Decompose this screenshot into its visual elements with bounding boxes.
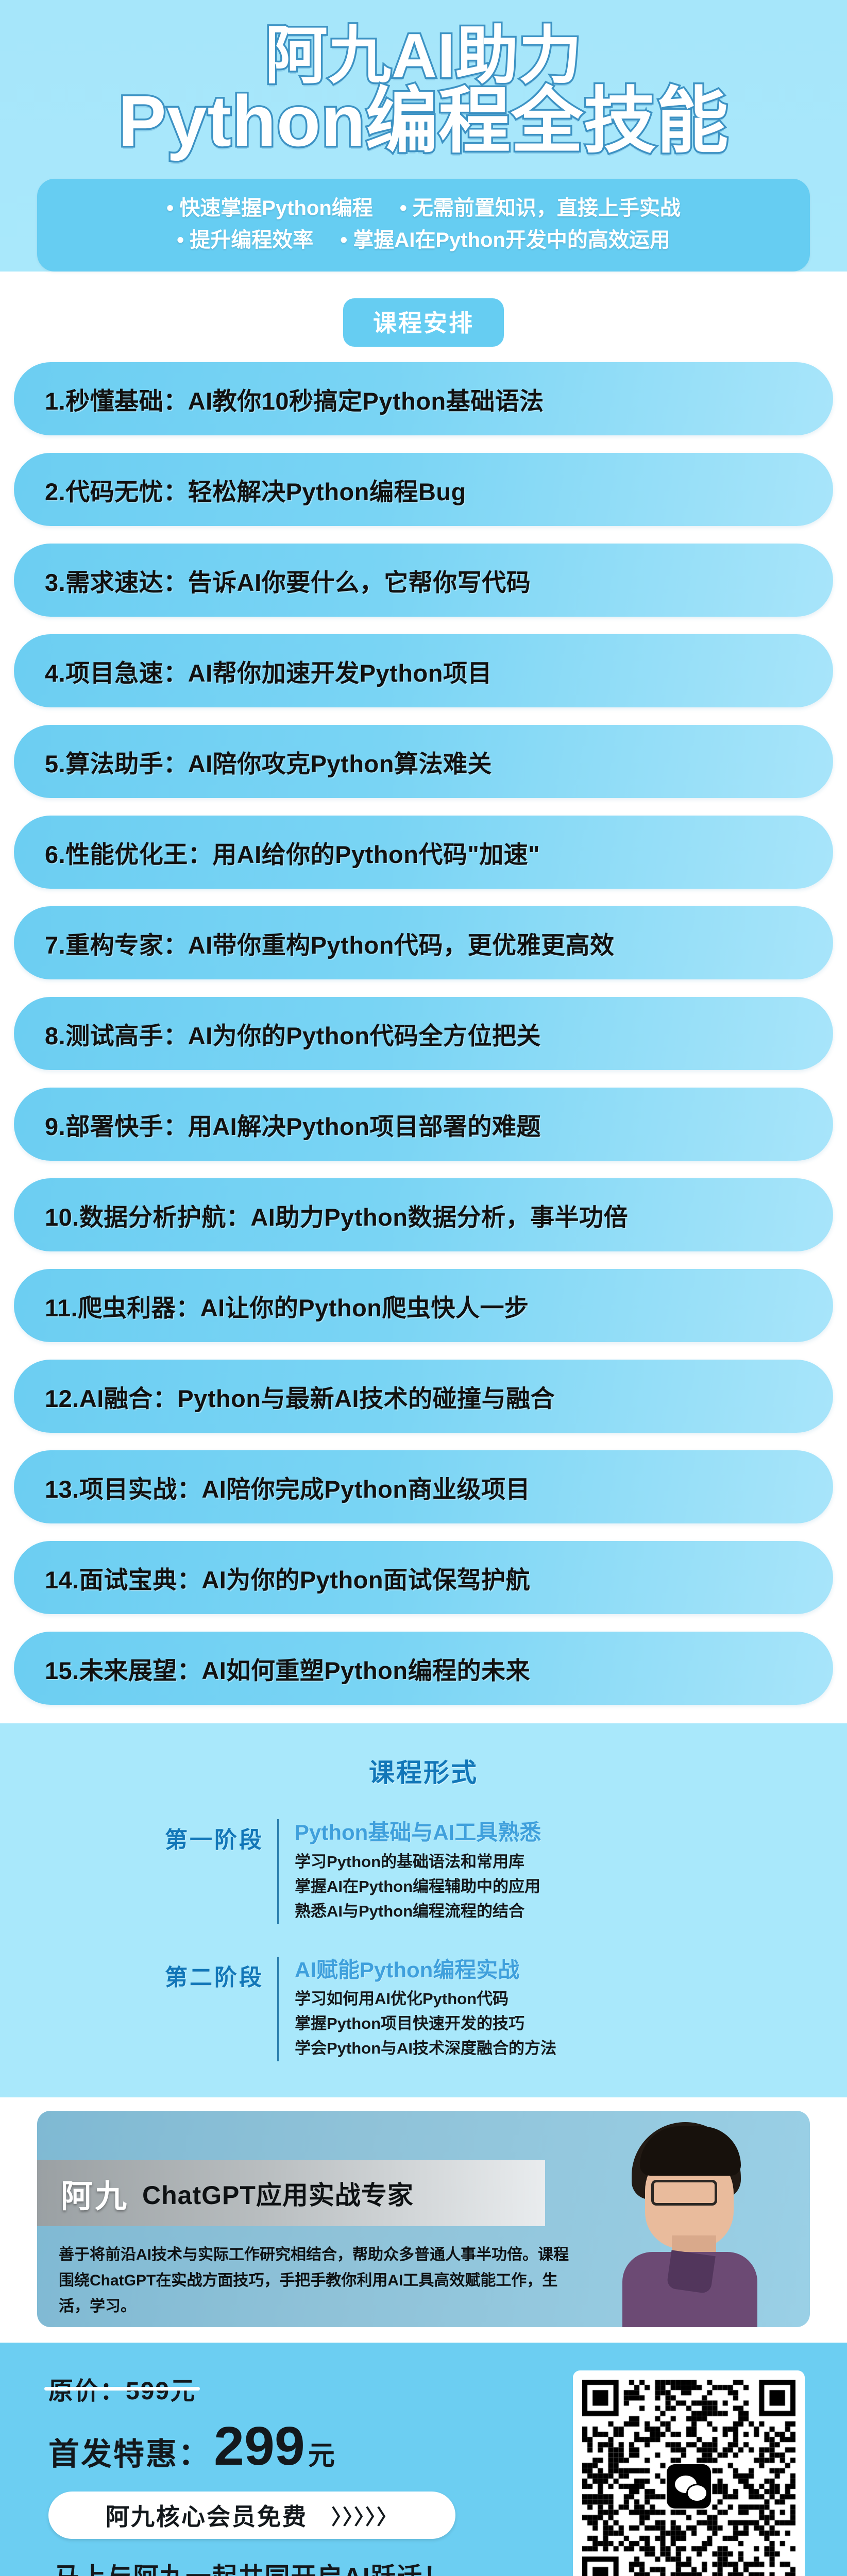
course-item-label: 3.需求速达：告诉AI你要什么，它帮你写代码 (45, 563, 531, 598)
glasses-icon (651, 2180, 717, 2206)
hero-section: 阿九AI助力 Python编程全技能 快速掌握Python编程 无需前置知识，直… (0, 0, 847, 272)
course-item[interactable]: 7.重构专家：AI带你重构Python代码，更优雅更高效 (14, 906, 833, 979)
wechat-qr-code[interactable] (573, 2370, 805, 2576)
instructor-card: 阿九 ChatGPT应用实战专家 善于将前沿AI技术与实际工作研究相结合，帮助众… (37, 2111, 810, 2327)
phase-detail-line: 掌握Python项目快速开发的技巧 (295, 2011, 556, 2036)
instructor-bio: 善于将前沿AI技术与实际工作研究相结合，帮助众多普通人事半功倍。课程围绕Chat… (59, 2242, 574, 2320)
course-item-label: 6.性能优化王：用AI给你的Python代码"加速" (45, 835, 540, 870)
phase-list: 第一阶段Python基础与AI工具熟悉学习Python的基础语法和常用库掌握AI… (0, 1819, 847, 2061)
phase-body: Python基础与AI工具熟悉学习Python的基础语法和常用库掌握AI在Pyt… (277, 1819, 541, 1924)
course-item[interactable]: 15.未来展望：AI如何重塑Python编程的未来 (14, 1632, 833, 1705)
course-item[interactable]: 8.测试高手：AI为你的Python代码全方位把关 (14, 997, 833, 1070)
original-price: 原价：599元 (48, 2370, 196, 2406)
course-item-label: 5.算法助手：AI陪你攻克Python算法难关 (45, 744, 492, 779)
course-item-label: 2.代码无忧：轻松解决Python编程Bug (45, 472, 466, 507)
instructor-section: 阿九 ChatGPT应用实战专家 善于将前沿AI技术与实际工作研究相结合，帮助众… (0, 2097, 847, 2343)
bullet-row-1: 快速掌握Python编程 无需前置知识，直接上手实战 (37, 192, 810, 224)
course-item-label: 14.面试宝典：AI为你的Python面试保驾护航 (45, 1560, 530, 1596)
course-item[interactable]: 2.代码无忧：轻松解决Python编程Bug (14, 453, 833, 526)
course-item-label: 11.爬虫利器：AI让你的Python爬虫快人一步 (45, 1288, 529, 1324)
page-title: 阿九AI助力 Python编程全技能 (0, 24, 847, 158)
course-item[interactable]: 10.数据分析护航：AI助力Python数据分析，事半功倍 (14, 1178, 833, 1251)
course-item-label: 13.项目实战：AI陪你完成Python商业级项目 (45, 1469, 530, 1505)
phase-block: 第一阶段Python基础与AI工具熟悉学习Python的基础语法和常用库掌握AI… (165, 1819, 847, 1924)
course-item[interactable]: 14.面试宝典：AI为你的Python面试保驾护航 (14, 1541, 833, 1614)
qr-column (568, 2370, 810, 2576)
member-free-button[interactable]: 阿九核心会员免费 〉〉〉〉〉 (48, 2492, 455, 2539)
instructor-name-bar: 阿九 ChatGPT应用实战专家 (37, 2160, 545, 2226)
course-item[interactable]: 9.部署快手：用AI解决Python项目部署的难题 (14, 1088, 833, 1161)
schedule-title-wrap: 课程安排 (0, 293, 847, 347)
course-item[interactable]: 1.秒懂基础：AI教你10秒搞定Python基础语法 (14, 362, 833, 435)
course-item[interactable]: 6.性能优化王：用AI给你的Python代码"加速" (14, 816, 833, 889)
bullet-item: 掌握AI在Python开发中的高效运用 (340, 224, 670, 256)
promo-price-number: 299 (214, 2419, 305, 2473)
course-item[interactable]: 12.AI融合：Python与最新AI技术的碰撞与融合 (14, 1360, 833, 1433)
course-list: 1.秒懂基础：AI教你10秒搞定Python基础语法2.代码无忧：轻松解决Pyt… (14, 362, 833, 1705)
phase-heading: AI赋能Python编程实战 (295, 1957, 556, 1984)
instructor-portrait-avatar (611, 2120, 766, 2327)
phase-label: 第一阶段 (165, 1819, 277, 1854)
phase-label: 第二阶段 (165, 1957, 277, 1992)
course-item[interactable]: 13.项目实战：AI陪你完成Python商业级项目 (14, 1450, 833, 1523)
phase-detail-line: 学会Python与AI技术深度融合的方法 (295, 2036, 556, 2061)
promo-price-row: 首发特惠： 299 元 (48, 2419, 512, 2474)
course-item[interactable]: 5.算法助手：AI陪你攻克Python算法难关 (14, 725, 833, 798)
phase-detail-line: 掌握AI在Python编程辅助中的应用 (295, 1874, 541, 1899)
instructor-role: ChatGPT应用实战专家 (142, 2175, 414, 2212)
bullet-item: 提升编程效率 (177, 224, 313, 256)
promo-price-unit: 元 (308, 2434, 335, 2472)
course-item[interactable]: 11.爬虫利器：AI让你的Python爬虫快人一步 (14, 1269, 833, 1342)
chevron-right-icon: 〉〉〉〉〉 (331, 2500, 398, 2530)
pricing-cta-section: 原价：599元 首发特惠： 299 元 阿九核心会员免费 〉〉〉〉〉 马上与阿九… (0, 2343, 847, 2576)
course-item-label: 1.秒懂基础：AI教你10秒搞定Python基础语法 (45, 381, 544, 417)
hero-bullets-panel: 快速掌握Python编程 无需前置知识，直接上手实战 提升编程效率 掌握AI在P… (37, 179, 810, 272)
course-item-label: 10.数据分析护航：AI助力Python数据分析，事半功倍 (45, 1197, 628, 1233)
course-item[interactable]: 3.需求速达：告诉AI你要什么，它帮你写代码 (14, 544, 833, 617)
phase-block: 第二阶段AI赋能Python编程实战学习如何用AI优化Python代码掌握Pyt… (165, 1957, 847, 2061)
member-free-label: 阿九核心会员免费 (106, 2498, 308, 2532)
price-column: 原价：599元 首发特惠： 299 元 阿九核心会员免费 〉〉〉〉〉 马上与阿九… (37, 2370, 512, 2576)
promo-price-label: 首发特惠： (48, 2429, 211, 2474)
title-line-1: 阿九AI助力 (21, 24, 826, 88)
format-title: 课程形式 (0, 1752, 847, 1789)
phase-body: AI赋能Python编程实战学习如何用AI优化Python代码掌握Python项… (277, 1957, 556, 2061)
course-item-label: 12.AI融合：Python与最新AI技术的碰撞与融合 (45, 1379, 555, 1414)
course-item[interactable]: 4.项目急速：AI帮你加速开发Python项目 (14, 634, 833, 707)
course-item-label: 9.部署快手：用AI解决Python项目部署的难题 (45, 1107, 541, 1142)
final-cta-text: 马上与阿九一起共同开启AI跃迁！ (48, 2556, 455, 2576)
instructor-name: 阿九 (61, 2170, 129, 2216)
phase-heading: Python基础与AI工具熟悉 (295, 1819, 541, 1846)
bullet-item: 快速掌握Python编程 (166, 192, 373, 224)
phase-detail-line: 熟悉AI与Python编程流程的结合 (295, 1899, 541, 1924)
title-line-2: Python编程全技能 (21, 84, 826, 158)
course-item-label: 8.测试高手：AI为你的Python代码全方位把关 (45, 1016, 541, 1052)
phase-detail-line: 学习Python的基础语法和常用库 (295, 1850, 541, 1874)
course-format-section: 课程形式 第一阶段Python基础与AI工具熟悉学习Python的基础语法和常用… (0, 1723, 847, 2097)
course-item-label: 15.未来展望：AI如何重塑Python编程的未来 (45, 1651, 530, 1686)
wechat-icon (667, 2464, 711, 2509)
course-item-label: 4.项目急速：AI帮你加速开发Python项目 (45, 653, 492, 689)
bullet-item: 无需前置知识，直接上手实战 (400, 192, 681, 224)
course-item-label: 7.重构专家：AI带你重构Python代码，更优雅更高效 (45, 925, 614, 961)
phase-detail-line: 学习如何用AI优化Python代码 (295, 1987, 556, 2011)
course-schedule-section: 课程安排 1.秒懂基础：AI教你10秒搞定Python基础语法2.代码无忧：轻松… (0, 272, 847, 1723)
schedule-title-pill: 课程安排 (343, 298, 504, 347)
bullet-row-2: 提升编程效率 掌握AI在Python开发中的高效运用 (37, 224, 810, 256)
poster-root: 阿九AI助力 Python编程全技能 快速掌握Python编程 无需前置知识，直… (0, 0, 847, 2576)
